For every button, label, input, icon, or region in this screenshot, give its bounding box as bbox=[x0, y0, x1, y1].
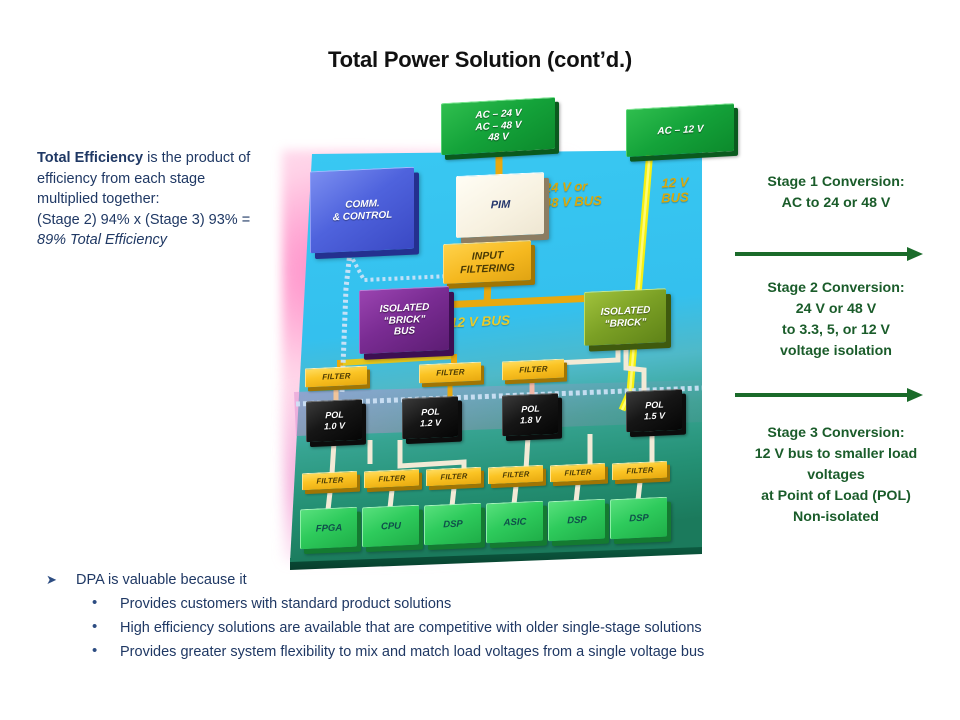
input-filtering-block[interactable]: INPUT FILTERING bbox=[443, 240, 531, 284]
stage-3-line-3: at Point of Load (POL) bbox=[722, 486, 950, 507]
bus-label-24-48v: 24 V or 48 V BUS bbox=[544, 179, 602, 211]
stage-2-heading: Stage 2 Conversion: bbox=[722, 278, 950, 299]
mid-filter-2-label: FILTER bbox=[434, 368, 467, 379]
note-line5: 89% Total Efficiency bbox=[37, 230, 299, 251]
load-dsp-2[interactable]: DSP bbox=[548, 499, 605, 542]
note-bold-lead: Total Efficiency bbox=[37, 150, 143, 166]
stage-2-line-1: 24 V or 48 V bbox=[722, 299, 950, 320]
load-dsp-3[interactable]: DSP bbox=[610, 497, 667, 540]
load-cpu-label: CPU bbox=[379, 520, 403, 532]
stage-divider-arrow-1 bbox=[735, 247, 925, 261]
isolated-brick-bus-block[interactable]: ISOLATED “BRICK” BUS bbox=[359, 286, 449, 354]
note-line1-rest: is the product of bbox=[143, 150, 250, 166]
note-line2: efficiency from each stage bbox=[37, 169, 299, 190]
stage-3-heading: Stage 3 Conversion: bbox=[722, 423, 950, 444]
arrow-head-icon bbox=[907, 388, 923, 402]
load-filter-2[interactable]: FILTER bbox=[364, 469, 419, 488]
total-efficiency-note: Total Efficiency is the product of effic… bbox=[37, 148, 299, 251]
bullet-level1-text: DPA is valuable because it bbox=[76, 568, 247, 592]
stage-1-line-1: AC to 24 or 48 V bbox=[722, 193, 950, 214]
load-filter-6-label: FILTER bbox=[625, 466, 656, 476]
load-filter-4[interactable]: FILTER bbox=[488, 465, 543, 484]
mid-filter-1-label: FILTER bbox=[320, 372, 353, 383]
pol-module-3[interactable]: POL 1.8 V bbox=[502, 393, 558, 437]
ac-source-24-48-block[interactable]: AC – 24 V AC – 48 V 48 V bbox=[441, 97, 555, 155]
arrow-head-icon bbox=[907, 247, 923, 261]
stage-3-line-1: 12 V bus to smaller load bbox=[722, 444, 950, 465]
load-dsp-1[interactable]: DSP bbox=[424, 503, 481, 546]
bus-label-12v-top: 12 V BUS bbox=[650, 175, 700, 206]
pol-module-2[interactable]: POL 1.2 V bbox=[402, 396, 458, 440]
load-asic[interactable]: ASIC bbox=[486, 501, 543, 544]
load-filter-3-label: FILTER bbox=[439, 472, 470, 482]
slide-canvas: Total Power Solution (cont’d.) Total Eff… bbox=[0, 0, 960, 720]
list-item: • High efficiency solutions are availabl… bbox=[46, 616, 926, 640]
arrow-bullet-icon: ➤ bbox=[46, 568, 76, 592]
stage-2-description: Stage 2 Conversion: 24 V or 48 V to 3.3,… bbox=[722, 278, 950, 362]
pol-module-3-line-2: 1.8 V bbox=[520, 415, 541, 427]
arrow-shaft bbox=[735, 393, 911, 397]
load-filter-1[interactable]: FILTER bbox=[302, 471, 357, 490]
pol-module-1[interactable]: POL 1.0 V bbox=[306, 399, 362, 443]
power-architecture-diagram: AC – 24 V AC – 48 V 48 V AC – 12 V COMM.… bbox=[278, 92, 718, 572]
load-filter-1-label: FILTER bbox=[315, 476, 346, 486]
pol-module-4[interactable]: POL 1.5 V bbox=[626, 389, 682, 433]
load-filter-5-label: FILTER bbox=[563, 468, 594, 478]
mid-filter-2[interactable]: FILTER bbox=[419, 362, 481, 384]
pim-label: PIM bbox=[489, 198, 513, 212]
ac-source-24-48-line-3: 48 V bbox=[475, 131, 521, 145]
bullet-level2-text-2: High efficiency solutions are available … bbox=[120, 616, 702, 640]
comm-and-control-block[interactable]: COMM. & CONTROL bbox=[310, 167, 414, 254]
ac-source-12-label: AC – 12 V bbox=[655, 123, 705, 138]
load-filter-5[interactable]: FILTER bbox=[550, 463, 605, 482]
list-item: • Provides greater system flexibility to… bbox=[46, 640, 926, 664]
stage-3-line-2: voltages bbox=[722, 465, 950, 486]
stage-3-line-4: Non-isolated bbox=[722, 507, 950, 528]
load-filter-3[interactable]: FILTER bbox=[426, 467, 481, 486]
isolated-brick-line-2: “BRICK” bbox=[601, 316, 651, 330]
page-title: Total Power Solution (cont’d.) bbox=[0, 47, 960, 73]
load-dsp-3-label: DSP bbox=[627, 512, 651, 524]
isolated-brick-bus-line-3: BUS bbox=[380, 325, 430, 339]
input-filtering-line-2: FILTERING bbox=[460, 261, 515, 276]
mid-filter-1[interactable]: FILTER bbox=[305, 366, 367, 388]
dot-bullet-icon: • bbox=[92, 640, 120, 664]
stage-divider-arrow-2 bbox=[735, 388, 925, 402]
load-dsp-1-label: DSP bbox=[441, 518, 465, 530]
bus-label-12v-top-line-2: BUS bbox=[650, 189, 700, 206]
load-filter-4-label: FILTER bbox=[501, 470, 532, 480]
dot-bullet-icon: • bbox=[92, 616, 120, 640]
stage-3-description: Stage 3 Conversion: 12 V bus to smaller … bbox=[722, 423, 950, 528]
load-fpga-label: FPGA bbox=[314, 522, 344, 535]
stage-1-description: Stage 1 Conversion: AC to 24 or 48 V bbox=[722, 172, 950, 214]
note-line3: multiplied together: bbox=[37, 189, 299, 210]
list-item: • Provides customers with standard produ… bbox=[46, 592, 926, 616]
load-asic-label: ASIC bbox=[502, 516, 529, 528]
mid-filter-3-label: FILTER bbox=[517, 365, 550, 376]
stage-2-line-2: to 3.3, 5, or 12 V bbox=[722, 320, 950, 341]
pol-module-1-line-2: 1.0 V bbox=[324, 421, 345, 433]
comm-control-line-2: & CONTROL bbox=[333, 209, 392, 223]
bus-label-24-48v-line-2: 48 V BUS bbox=[544, 193, 602, 210]
stage-2-line-3: voltage isolation bbox=[722, 341, 950, 362]
load-cpu[interactable]: CPU bbox=[362, 505, 419, 548]
load-fpga[interactable]: FPGA bbox=[300, 507, 357, 550]
mid-filter-3[interactable]: FILTER bbox=[502, 359, 564, 381]
bus-label-12v-mid: 12 V BUS bbox=[450, 313, 510, 331]
isolated-brick-block[interactable]: ISOLATED “BRICK” bbox=[584, 288, 666, 346]
arrow-shaft bbox=[735, 252, 911, 256]
ac-source-12-block[interactable]: AC – 12 V bbox=[626, 103, 734, 157]
pol-module-4-line-2: 1.5 V bbox=[644, 411, 665, 423]
dot-bullet-icon: • bbox=[92, 592, 120, 616]
pol-module-2-line-2: 1.2 V bbox=[420, 418, 441, 430]
bullet-list: ➤ DPA is valuable because it • Provides … bbox=[46, 568, 926, 664]
load-filter-2-label: FILTER bbox=[377, 474, 408, 484]
bullet-level2-text-1: Provides customers with standard product… bbox=[120, 592, 451, 616]
note-line4: (Stage 2) 94% x (Stage 3) 93% = bbox=[37, 210, 299, 231]
load-filter-6[interactable]: FILTER bbox=[612, 461, 667, 480]
pim-block[interactable]: PIM bbox=[456, 172, 544, 238]
stage-1-heading: Stage 1 Conversion: bbox=[722, 172, 950, 193]
bullet-level2-text-3: Provides greater system flexibility to m… bbox=[120, 640, 704, 664]
load-dsp-2-label: DSP bbox=[565, 514, 589, 526]
